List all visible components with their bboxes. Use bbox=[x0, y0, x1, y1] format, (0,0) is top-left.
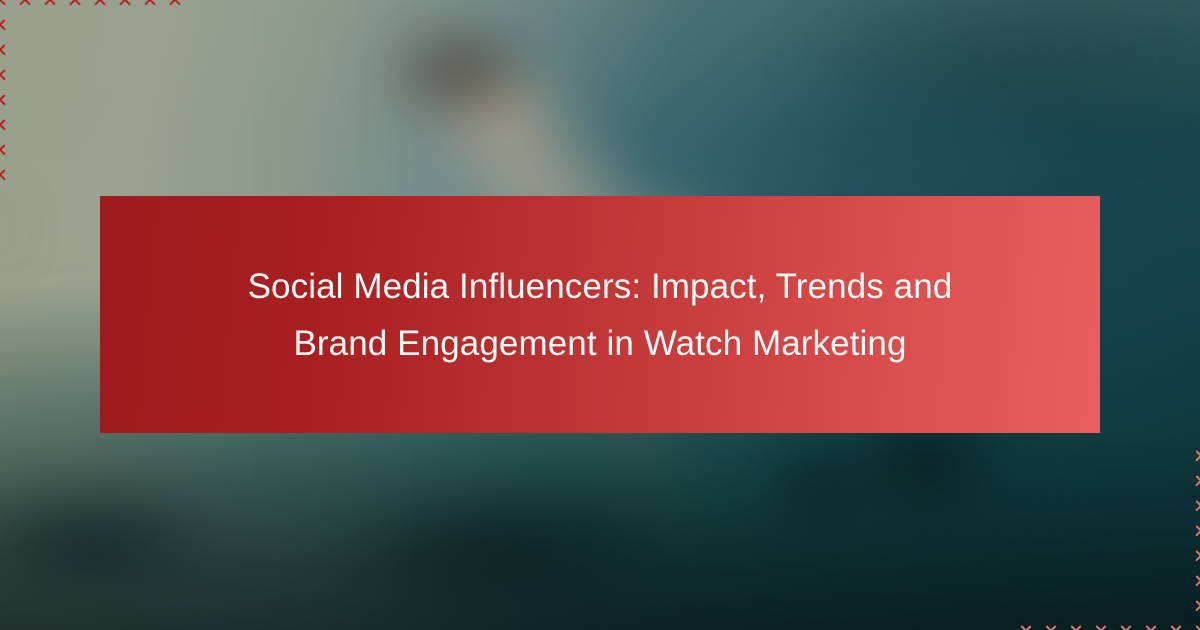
page-title: Social Media Influencers: Impact, Trends… bbox=[205, 258, 995, 372]
social-share-card: Social Media Influencers: Impact, Trends… bbox=[0, 0, 1200, 630]
title-banner: Social Media Influencers: Impact, Trends… bbox=[100, 196, 1100, 433]
